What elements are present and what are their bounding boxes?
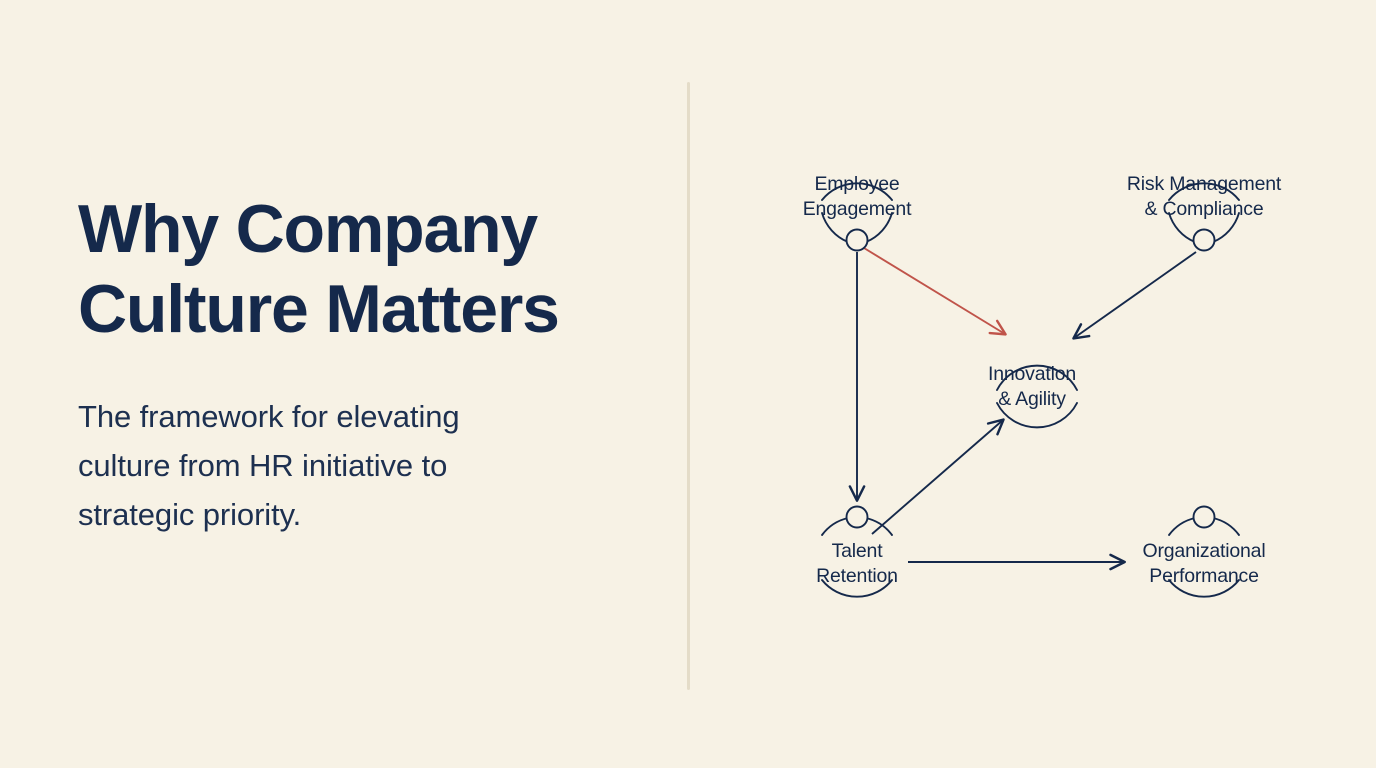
node-label-line2: & Agility [998, 388, 1066, 410]
vertical-divider [687, 82, 690, 690]
edge-retention-to-innovation [872, 420, 1003, 534]
node-label-line2: & Compliance [1145, 198, 1264, 220]
page-subtitle: The framework for elevating culture from… [78, 349, 638, 540]
node-label-line2: Engagement [803, 198, 912, 220]
node-arc-top-right [1213, 518, 1239, 535]
node-talent-retention[interactable]: Talent Retention [816, 507, 898, 597]
node-label-line2: Performance [1149, 565, 1258, 587]
node-organizational-performance[interactable]: Organizational Performance [1143, 507, 1266, 597]
slide-canvas: Why Company Culture Matters The framewor… [0, 0, 1376, 768]
node-label-line1: Risk Management [1127, 173, 1282, 195]
culture-framework-diagram: Employee Engagement Risk Management & Co… [700, 0, 1376, 768]
node-risk-management-compliance[interactable]: Risk Management & Compliance [1127, 173, 1282, 251]
left-text-column: Why Company Culture Matters The framewor… [78, 190, 638, 540]
node-port-circle[interactable] [1194, 507, 1215, 528]
node-innovation-agility[interactable]: Innovation & Agility [988, 363, 1077, 427]
node-label-line1: Innovation [988, 363, 1076, 385]
node-employee-engagement[interactable]: Employee Engagement [803, 173, 912, 251]
node-arc-top-left [1169, 518, 1195, 535]
node-label-line1: Employee [814, 173, 899, 195]
node-port-circle[interactable] [847, 230, 868, 251]
page-title: Why Company Culture Matters [78, 190, 638, 349]
edge-engagement-to-innovation [864, 248, 1005, 334]
node-port-circle[interactable] [847, 507, 868, 528]
node-label-line1: Organizational [1143, 540, 1266, 562]
node-arc-top-left [822, 518, 848, 535]
node-port-circle[interactable] [1194, 230, 1215, 251]
node-label-line2: Retention [816, 565, 898, 587]
node-label-line1: Talent [832, 540, 884, 562]
edge-risk-to-innovation [1074, 252, 1196, 338]
